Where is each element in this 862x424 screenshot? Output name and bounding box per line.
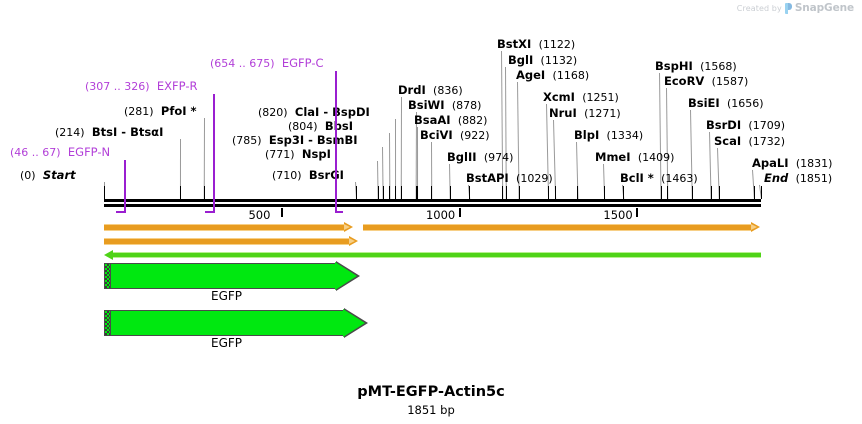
axis-cut-hash — [577, 186, 578, 199]
enzyme-name: BlpI — [574, 128, 599, 142]
enzyme-site-label[interactable]: (214) BtsI - BtsαI — [55, 126, 163, 139]
axis-cut-hash — [389, 186, 390, 199]
axis-bar-top — [104, 199, 761, 202]
orange-track-arrowhead — [344, 222, 353, 232]
axis-cut-hash — [502, 186, 503, 199]
enzyme-name: BstAPI — [466, 171, 509, 185]
ruler-tick-mark — [281, 208, 283, 217]
gene-truncated-end-hatch — [104, 263, 111, 289]
axis-bar-bottom — [104, 204, 761, 207]
axis-cut-hash — [104, 186, 105, 199]
enzyme-site-label[interactable]: BsiEI (1656) — [688, 97, 764, 110]
enzyme-position: (922) — [460, 129, 490, 142]
enzyme-site-label[interactable]: XcmI (1251) — [543, 91, 619, 104]
enzyme-site-label[interactable]: BsiWI (878) — [408, 99, 481, 112]
enzyme-site-label[interactable]: BclI * (1463) — [620, 172, 698, 185]
enzyme-position: (1568) — [700, 60, 737, 73]
feature-marker-foot — [335, 211, 343, 213]
axis-cut-hash — [401, 186, 402, 199]
enzyme-name: BglI — [508, 53, 533, 67]
enzyme-name: BsaAI — [414, 113, 451, 127]
axis-cut-hash — [754, 186, 755, 199]
enzyme-position: (710) — [272, 169, 302, 182]
enzyme-site-label[interactable]: BglI (1132) — [508, 54, 577, 67]
gene-arrow-egfp[interactable] — [104, 263, 360, 289]
gene-arrowhead — [335, 262, 357, 290]
enzyme-name: BstXI — [497, 37, 531, 51]
ruler-tick-mark — [459, 208, 461, 217]
enzyme-name: NruI — [549, 106, 577, 120]
enzyme-site-label[interactable]: BsaAI (882) — [414, 114, 487, 127]
enzyme-site-label[interactable]: MmeI (1409) — [595, 151, 674, 164]
axis-cut-hash — [356, 186, 357, 199]
enzyme-name: BciVI — [420, 128, 453, 142]
feature-range: (654 .. 675) — [210, 57, 275, 70]
axis-cut-hash — [395, 186, 396, 199]
gene-arrow-label: EGFP — [211, 336, 242, 350]
enzyme-name: EcoRV — [664, 74, 704, 88]
ruler-tick-label: 1000 — [426, 208, 455, 222]
enzyme-position: (804) — [288, 120, 318, 133]
gene-arrow-body — [104, 263, 336, 289]
feature-range: (307 .. 326) — [85, 80, 150, 93]
green-track-arrowhead — [104, 250, 113, 260]
enzyme-site-label[interactable]: (820) ClaI - BspDI — [258, 106, 370, 119]
enzyme-position: (882) — [458, 114, 488, 127]
enzyme-site-label[interactable]: ApaLI (1831) — [752, 157, 832, 170]
axis-cut-hash — [555, 186, 556, 199]
orange-feature-track[interactable] — [104, 238, 350, 245]
enzyme-position: (878) — [452, 99, 482, 112]
enzyme-name: ApaLI — [752, 156, 789, 170]
enzyme-position: (1463) — [661, 172, 698, 185]
feature-name: EGFP-C — [282, 56, 324, 70]
axis-cut-hash — [506, 186, 507, 199]
gene-arrowhead — [343, 309, 365, 337]
gene-truncated-end-hatch — [104, 310, 111, 336]
enzyme-position: (1029) — [516, 172, 553, 185]
axis-cut-hash — [417, 186, 418, 199]
enzyme-site-label[interactable]: BglII (974) — [447, 151, 513, 164]
enzyme-position: (836) — [433, 84, 463, 97]
axis-cut-hash — [604, 186, 605, 199]
feature-marker-foot — [205, 211, 213, 213]
plasmid-title: pMT-EGFP-Actin5c — [0, 384, 862, 400]
enzyme-name: End — [764, 171, 788, 185]
orange-feature-track[interactable] — [363, 224, 752, 231]
enzyme-site-label[interactable]: End (1851) — [764, 172, 832, 185]
enzyme-position: (771) — [265, 148, 295, 161]
gene-arrow-egfp[interactable] — [104, 310, 368, 336]
enzyme-position: (1271) — [584, 107, 621, 120]
axis-cut-hash — [519, 186, 520, 199]
feature-marker-line — [335, 71, 337, 213]
enzyme-position: (1587) — [712, 75, 749, 88]
axis-cut-hash — [378, 186, 379, 199]
enzyme-position: (1831) — [796, 157, 833, 170]
enzyme-name: BtsI - BtsαI — [92, 125, 163, 139]
enzyme-name: BglII — [447, 150, 477, 164]
enzyme-position: (281) — [124, 105, 154, 118]
enzyme-site-label[interactable]: ScaI (1732) — [714, 135, 785, 148]
ruler-tick-mark — [636, 208, 638, 217]
feature-marker-line — [124, 160, 126, 213]
enzyme-name: BclI * — [620, 171, 654, 185]
enzyme-position: (0) — [20, 169, 36, 182]
axis-cut-hash — [548, 186, 549, 199]
enzyme-name: NspI — [302, 147, 331, 161]
enzyme-site-label[interactable]: (804) BbsI — [288, 120, 353, 133]
feature-label[interactable]: (654 .. 675) EGFP-C — [210, 57, 324, 70]
ruler-tick-label: 1500 — [603, 208, 632, 222]
enzyme-name: BsiWI — [408, 98, 445, 112]
enzyme-site-label[interactable]: (785) Esp3I - BsmBI — [232, 134, 358, 147]
feature-marker-line — [213, 94, 215, 213]
enzyme-position: (1168) — [553, 69, 590, 82]
snapgene-logo-icon — [785, 3, 792, 14]
enzyme-name: BspHI — [655, 59, 693, 73]
enzyme-position: (1656) — [727, 97, 764, 110]
snapgene-sequence-map: Created by SnapGene (0) Start(214) BtsI … — [0, 0, 862, 424]
enzyme-name: ScaI — [714, 134, 741, 148]
enzyme-site-label[interactable]: NruI (1271) — [549, 107, 621, 120]
gene-arrow-body — [104, 310, 344, 336]
orange-track-arrowhead — [349, 236, 358, 246]
enzyme-site-label[interactable]: AgeI (1168) — [516, 69, 589, 82]
axis-cut-hash — [383, 186, 384, 199]
enzyme-position: (1132) — [541, 54, 578, 67]
enzyme-name: BbsI — [325, 119, 353, 133]
enzyme-name: XcmI — [543, 90, 575, 104]
axis-cut-hash — [450, 186, 451, 199]
axis-cut-hash — [719, 186, 720, 199]
enzyme-site-label[interactable]: BlpI (1334) — [574, 129, 643, 142]
feature-range: (46 .. 67) — [10, 146, 61, 159]
plasmid-length: 1851 bp — [0, 403, 862, 417]
watermark-created-by-text: Created by — [737, 4, 782, 13]
axis-cut-hash — [667, 186, 668, 199]
enzyme-position: (214) — [55, 126, 85, 139]
enzyme-site-label[interactable]: (710) BsrGI — [272, 169, 344, 182]
enzyme-site-label[interactable]: EcoRV (1587) — [664, 75, 748, 88]
axis-cut-hash — [431, 186, 432, 199]
enzyme-name: Esp3I - BsmBI — [269, 133, 358, 147]
enzyme-name: Start — [43, 168, 76, 182]
axis-cut-hash — [692, 186, 693, 199]
orange-feature-track[interactable] — [104, 224, 345, 231]
enzyme-name: BsrDI — [706, 118, 741, 132]
enzyme-position: (1709) — [748, 119, 785, 132]
enzyme-position: (1732) — [748, 135, 785, 148]
enzyme-position: (974) — [484, 151, 514, 164]
enzyme-site-label[interactable]: BspHI (1568) — [655, 60, 737, 73]
axis-cut-hash — [469, 186, 470, 199]
feature-label[interactable]: (307 .. 326) EXFP-R — [85, 80, 197, 93]
feature-name: EXFP-R — [157, 79, 198, 93]
enzyme-site-label[interactable]: (281) PfoI * — [124, 105, 197, 118]
feature-marker-foot — [116, 211, 124, 213]
enzyme-name: ClaI - BspDI — [295, 105, 370, 119]
feature-label[interactable]: (46 .. 67) EGFP-N — [10, 146, 110, 159]
enzyme-site-label[interactable]: (771) NspI — [265, 148, 331, 161]
enzyme-position: (1334) — [607, 129, 644, 142]
enzyme-site-label[interactable]: BstAPI (1029) — [466, 172, 553, 185]
enzyme-name: AgeI — [516, 68, 545, 82]
enzyme-name: DrdI — [398, 83, 426, 97]
enzyme-site-label[interactable]: BsrDI (1709) — [706, 119, 785, 132]
axis-cut-hash — [180, 186, 181, 199]
green-reverse-track[interactable] — [111, 252, 761, 258]
enzyme-name: MmeI — [595, 150, 631, 164]
orange-track-arrowhead — [751, 222, 760, 232]
ruler-tick-label: 500 — [248, 208, 270, 222]
enzyme-name: PfoI * — [161, 104, 197, 118]
enzyme-name: BsrGI — [309, 168, 344, 182]
axis-cut-hash — [661, 186, 662, 199]
axis-cut-hash — [623, 186, 624, 199]
feature-name: EGFP-N — [68, 145, 110, 159]
enzyme-site-label[interactable]: DrdI (836) — [398, 84, 463, 97]
gene-arrow-label: EGFP — [211, 289, 242, 303]
enzyme-site-label[interactable]: BciVI (922) — [420, 129, 490, 142]
axis-cut-hash — [761, 186, 762, 199]
snapgene-watermark: Created by SnapGene — [737, 2, 854, 14]
enzyme-name: BsiEI — [688, 96, 720, 110]
watermark-brand-text: SnapGene — [795, 2, 854, 14]
enzyme-position: (1251) — [582, 91, 619, 104]
axis-cut-hash — [204, 186, 205, 199]
enzyme-site-label[interactable]: BstXI (1122) — [497, 38, 575, 51]
enzyme-position: (1409) — [638, 151, 675, 164]
axis-cut-hash — [711, 186, 712, 199]
leader-line — [401, 97, 402, 199]
enzyme-position: (820) — [258, 106, 288, 119]
enzyme-position: (785) — [232, 134, 262, 147]
enzyme-site-label[interactable]: (0) Start — [20, 169, 76, 182]
enzyme-position: (1122) — [539, 38, 576, 51]
enzyme-position: (1851) — [796, 172, 833, 185]
